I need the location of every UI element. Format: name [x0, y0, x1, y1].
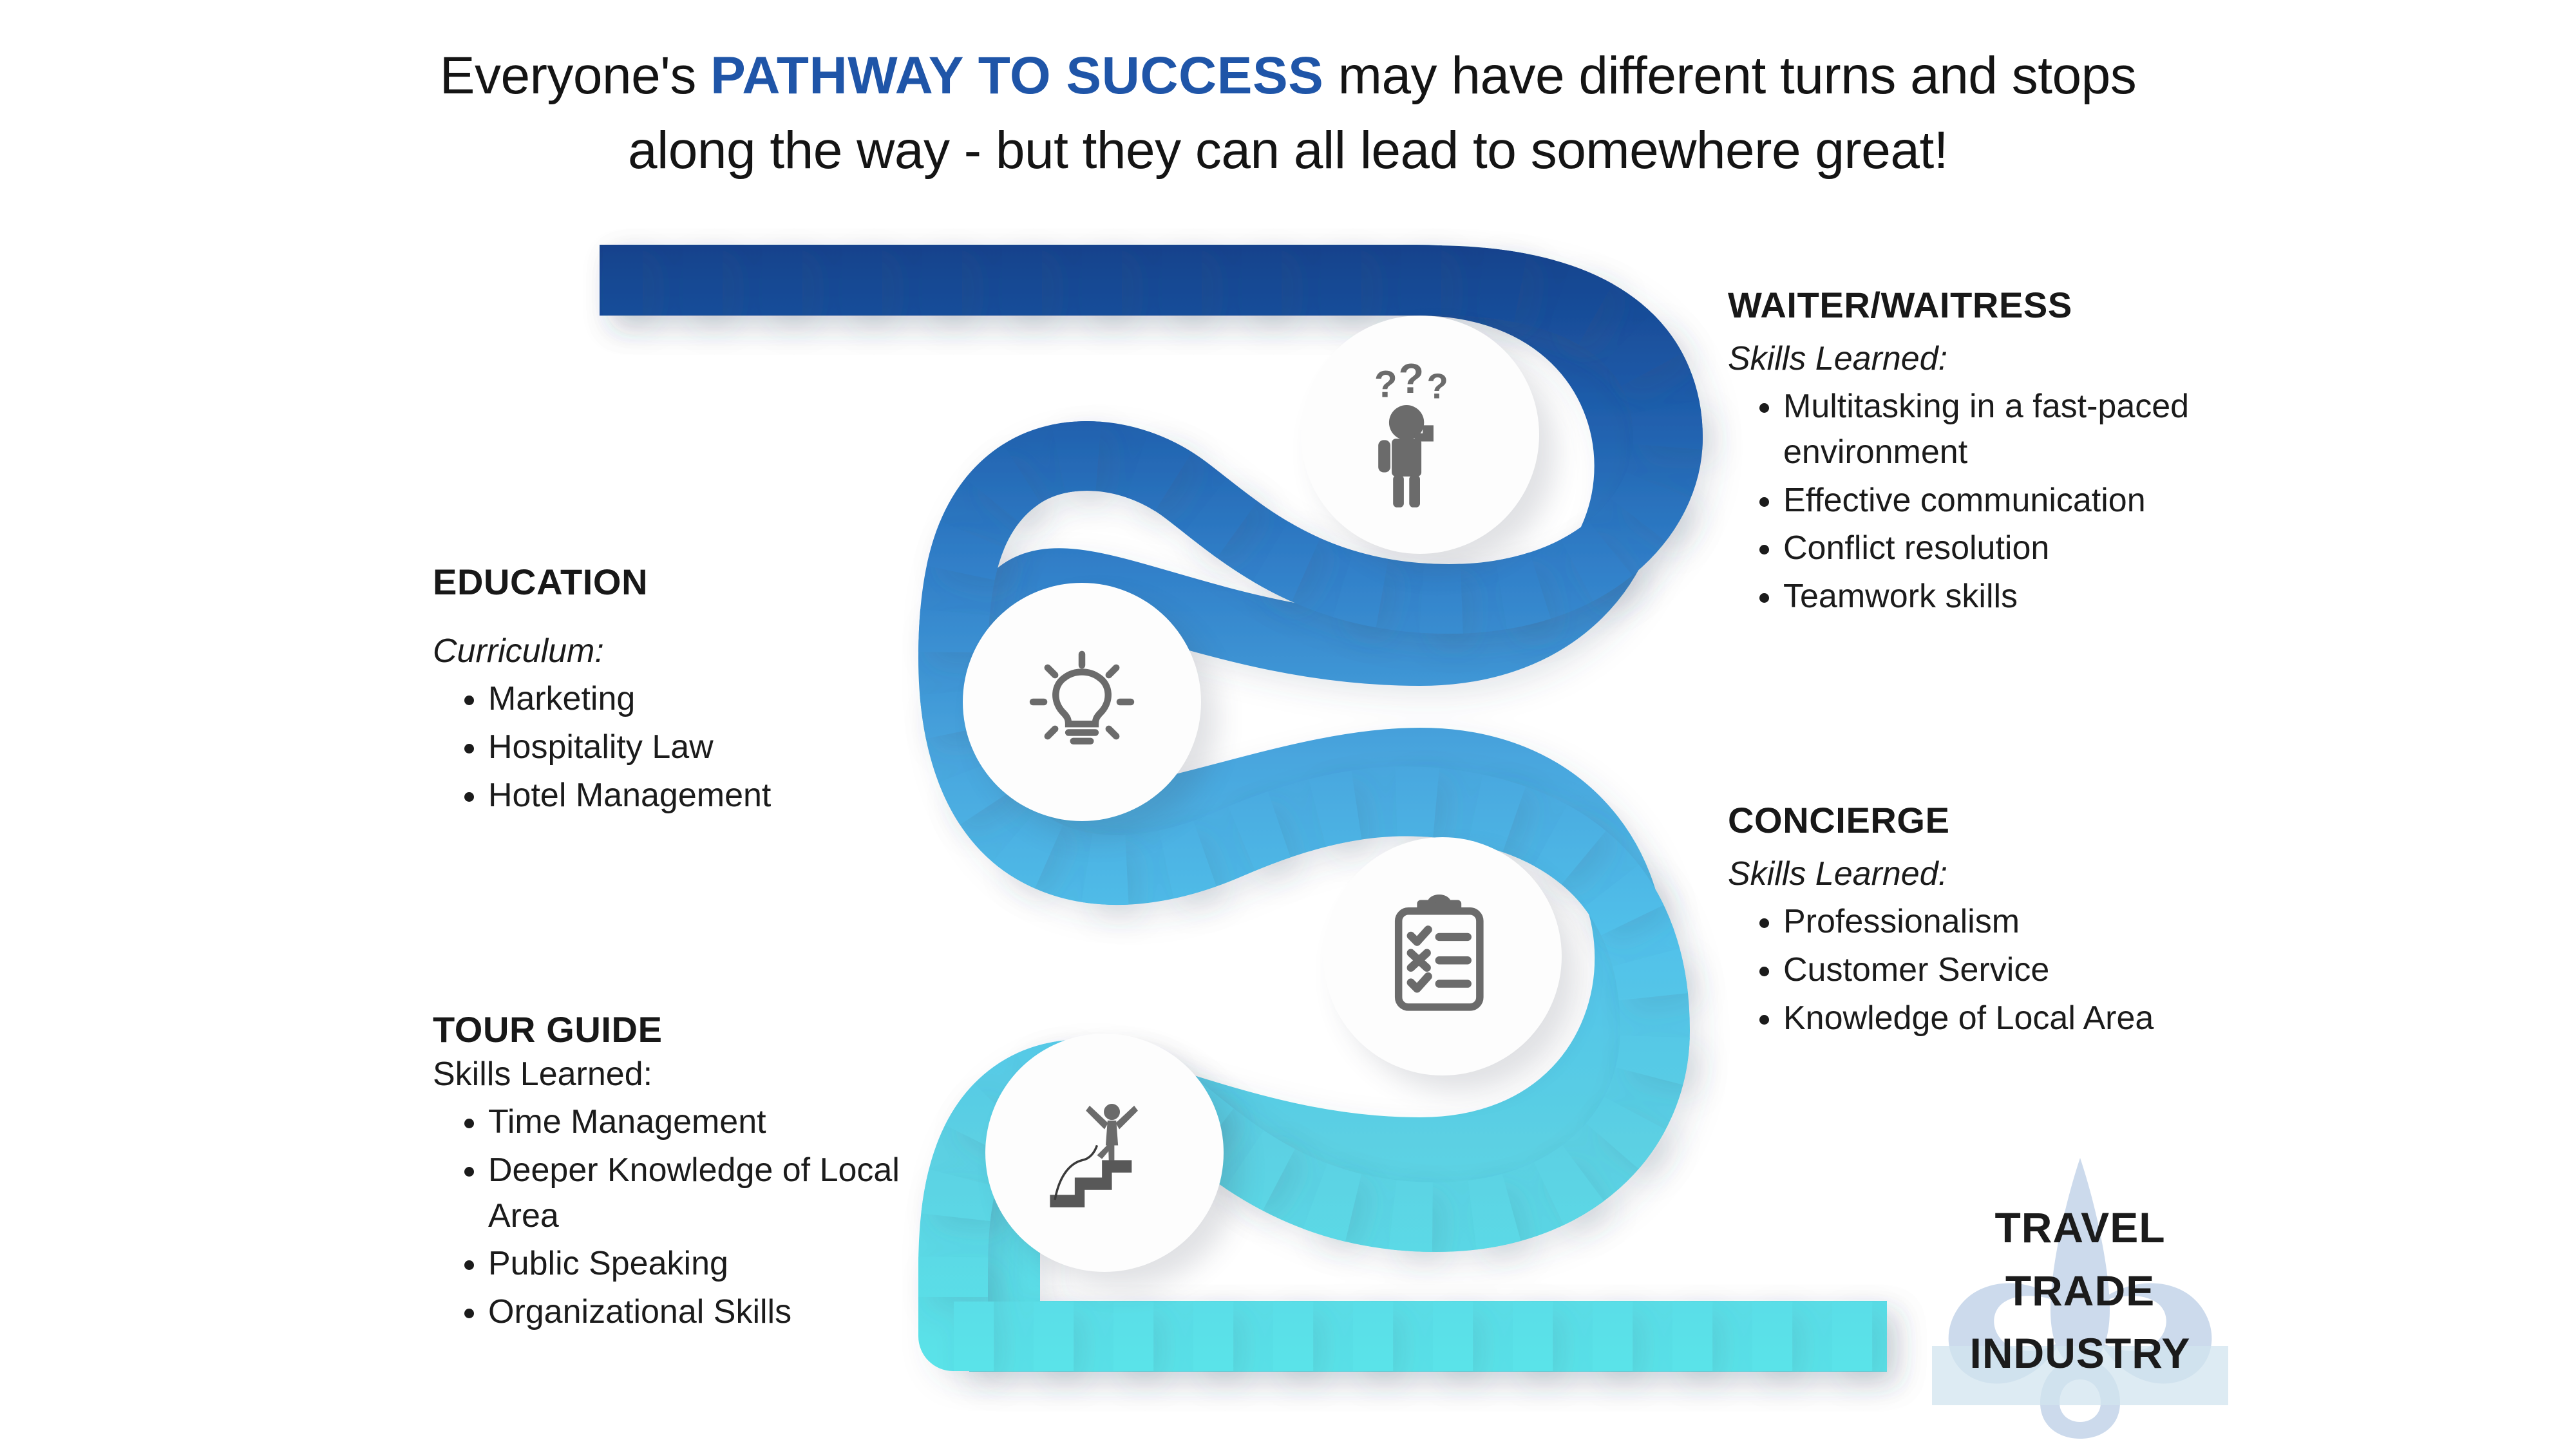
info-block-waiter: WAITER/WAITRESS Skills Learned: Multitas…: [1728, 287, 2307, 622]
stop-marker-concierge: [1323, 837, 1562, 1075]
list-item: Knowledge of Local Area: [1783, 996, 2307, 1041]
tour-guide-skill-list: Time Management Deeper Knowledge of Loca…: [433, 1099, 922, 1335]
logo-wordmark: TRAVEL TRADE INDUSTRY: [1922, 1197, 2238, 1385]
list-item: Hospitality Law: [488, 724, 922, 770]
list-item: Public Speaking: [488, 1241, 922, 1287]
stop-marker-tour-guide: [985, 1034, 1224, 1272]
list-item: Professionalism: [1783, 899, 2307, 945]
info-block-tour-guide: TOUR GUIDE Skills Learned: Time Manageme…: [433, 1011, 922, 1338]
list-item: Customer Service: [1783, 947, 2307, 993]
concierge-heading: CONCIERGE: [1728, 802, 2307, 840]
list-item: Hotel Management: [488, 773, 922, 819]
education-subheading: Curriculum:: [433, 631, 922, 671]
svg-text:?: ?: [1426, 367, 1448, 406]
svg-text:?: ?: [1399, 361, 1425, 402]
list-item: Effective communication: [1783, 478, 2307, 524]
logo-line-3: INDUSTRY: [1922, 1322, 2238, 1385]
lightbulb-icon: [1021, 641, 1143, 763]
svg-text:?: ?: [1374, 363, 1397, 405]
brand-logo: TRAVEL TRADE INDUSTRY: [1922, 1153, 2238, 1449]
concierge-skill-list: Professionalism Customer Service Knowled…: [1728, 899, 2307, 1041]
tour-guide-subheading: Skills Learned:: [433, 1054, 922, 1094]
clipboard-checklist-icon: [1383, 894, 1502, 1019]
education-curriculum-list: Marketing Hospitality Law Hotel Manageme…: [433, 676, 922, 818]
waiter-skill-list: Multitasking in a fast-paced environment…: [1728, 384, 2307, 620]
person-on-stairs-icon: [1040, 1088, 1169, 1217]
confused-person-icon: ? ? ?: [1352, 361, 1488, 509]
education-heading: EDUCATION: [433, 563, 922, 601]
info-block-education: EDUCATION Curriculum: Marketing Hospital…: [433, 563, 922, 820]
list-item: Teamwork skills: [1783, 574, 2307, 620]
concierge-subheading: Skills Learned:: [1728, 854, 2307, 894]
list-item: Marketing: [488, 676, 922, 722]
waiter-subheading: Skills Learned:: [1728, 339, 2307, 379]
list-item: Organizational Skills: [488, 1289, 922, 1335]
waiter-heading: WAITER/WAITRESS: [1728, 287, 2307, 325]
tour-guide-heading: TOUR GUIDE: [433, 1011, 922, 1049]
logo-line-2: TRADE: [1922, 1260, 2238, 1323]
list-item: Deeper Knowledge of Local Area: [488, 1148, 922, 1238]
list-item: Multitasking in a fast-paced environment: [1783, 384, 2307, 475]
info-block-concierge: CONCIERGE Skills Learned: Professionalis…: [1728, 802, 2307, 1043]
stop-marker-waiter: ? ? ?: [1301, 316, 1539, 554]
logo-line-1: TRAVEL: [1922, 1197, 2238, 1260]
list-item: Conflict resolution: [1783, 526, 2307, 571]
stop-marker-education: [963, 583, 1201, 821]
list-item: Time Management: [488, 1099, 922, 1145]
